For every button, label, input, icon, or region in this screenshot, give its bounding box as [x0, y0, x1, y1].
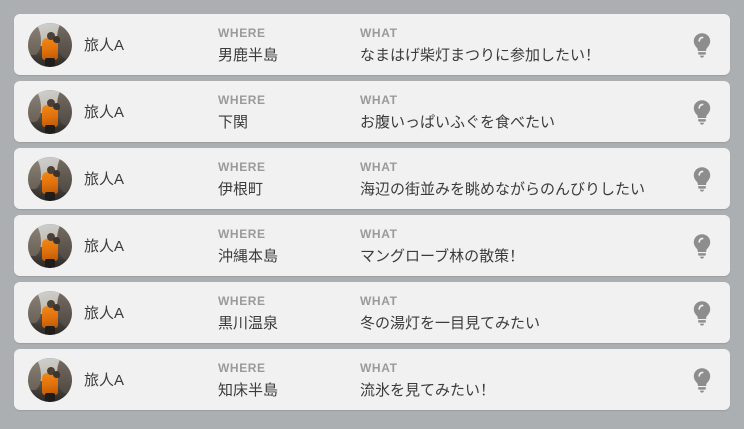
avatar-photo	[28, 291, 72, 335]
wish-card[interactable]: 旅人A WHERE 下関 WHAT お腹いっぱいふぐを食べたい	[14, 81, 730, 142]
what-field: WHAT なまはげ柴灯まつりに参加したい！	[360, 14, 600, 75]
avatar-photo-arm	[53, 170, 60, 177]
what-label: WHAT	[360, 94, 555, 106]
what-value: なまはげ柴灯まつりに参加したい！	[360, 48, 600, 63]
lightbulb-icon[interactable]	[690, 31, 714, 59]
avatar-photo-arm	[53, 371, 60, 378]
what-value: 流氷を見てみたい！	[360, 383, 495, 398]
what-field: WHAT 冬の湯灯を一目見てみたい	[360, 282, 540, 343]
avatar[interactable]	[28, 23, 72, 67]
avatar-photo-legs	[45, 259, 55, 268]
avatar[interactable]	[28, 291, 72, 335]
where-field: WHERE 伊根町	[218, 148, 266, 209]
avatar-photo	[28, 23, 72, 67]
avatar-photo	[28, 90, 72, 134]
where-field: WHERE 男鹿半島	[218, 14, 278, 75]
where-label: WHERE	[218, 94, 266, 106]
what-label: WHAT	[360, 27, 600, 39]
where-value: 沖縄本島	[218, 249, 278, 264]
what-value: 冬の湯灯を一目見てみたい	[360, 316, 540, 331]
where-label: WHERE	[218, 161, 266, 173]
avatar[interactable]	[28, 90, 72, 134]
traveller-name: 旅人A	[84, 34, 124, 55]
avatar-photo-arm	[53, 304, 60, 311]
wish-card[interactable]: 旅人A WHERE 伊根町 WHAT 海辺の街並みを眺めながらのんびりしたい	[14, 148, 730, 209]
where-label: WHERE	[218, 295, 278, 307]
what-value: マングローブ林の散策！	[360, 249, 524, 264]
lightbulb-icon[interactable]	[690, 165, 714, 193]
avatar-photo	[28, 224, 72, 268]
where-value: 黒川温泉	[218, 316, 278, 331]
wish-list: 旅人A WHERE 男鹿半島 WHAT なまはげ柴灯まつりに参加したい！	[0, 0, 744, 410]
what-label: WHAT	[360, 362, 495, 374]
what-label: WHAT	[360, 228, 524, 240]
traveller-name: 旅人A	[84, 101, 124, 122]
avatar[interactable]	[28, 157, 72, 201]
where-field: WHERE 黒川温泉	[218, 282, 278, 343]
what-value: お腹いっぱいふぐを食べたい	[360, 115, 555, 130]
avatar-photo-legs	[45, 125, 55, 134]
where-field: WHERE 知床半島	[218, 349, 278, 410]
avatar-photo	[28, 358, 72, 402]
avatar-photo-arm	[53, 36, 60, 43]
where-value: 伊根町	[218, 182, 266, 197]
traveller-name: 旅人A	[84, 369, 124, 390]
where-label: WHERE	[218, 362, 278, 374]
where-value: 男鹿半島	[218, 48, 278, 63]
traveller-name: 旅人A	[84, 235, 124, 256]
what-label: WHAT	[360, 295, 540, 307]
lightbulb-icon[interactable]	[690, 232, 714, 260]
lightbulb-icon[interactable]	[690, 366, 714, 394]
where-label: WHERE	[218, 228, 278, 240]
avatar[interactable]	[28, 358, 72, 402]
what-label: WHAT	[360, 161, 645, 173]
avatar-photo-legs	[45, 393, 55, 402]
where-field: WHERE 下関	[218, 81, 266, 142]
where-value: 知床半島	[218, 383, 278, 398]
avatar[interactable]	[28, 224, 72, 268]
traveller-name: 旅人A	[84, 302, 124, 323]
wish-card[interactable]: 旅人A WHERE 男鹿半島 WHAT なまはげ柴灯まつりに参加したい！	[14, 14, 730, 75]
what-field: WHAT マングローブ林の散策！	[360, 215, 524, 276]
avatar-photo-arm	[53, 103, 60, 110]
avatar-photo-arm	[53, 237, 60, 244]
where-label: WHERE	[218, 27, 278, 39]
avatar-photo-legs	[45, 58, 55, 67]
what-field: WHAT 海辺の街並みを眺めながらのんびりしたい	[360, 148, 645, 209]
what-field: WHAT 流氷を見てみたい！	[360, 349, 495, 410]
where-field: WHERE 沖縄本島	[218, 215, 278, 276]
avatar-photo	[28, 157, 72, 201]
traveller-name: 旅人A	[84, 168, 124, 189]
where-value: 下関	[218, 115, 266, 130]
avatar-photo-legs	[45, 326, 55, 335]
what-field: WHAT お腹いっぱいふぐを食べたい	[360, 81, 555, 142]
wish-card[interactable]: 旅人A WHERE 沖縄本島 WHAT マングローブ林の散策！	[14, 215, 730, 276]
avatar-photo-legs	[45, 192, 55, 201]
what-value: 海辺の街並みを眺めながらのんびりしたい	[360, 182, 645, 197]
wish-card[interactable]: 旅人A WHERE 黒川温泉 WHAT 冬の湯灯を一目見てみたい	[14, 282, 730, 343]
lightbulb-icon[interactable]	[690, 299, 714, 327]
lightbulb-icon[interactable]	[690, 98, 714, 126]
wish-card[interactable]: 旅人A WHERE 知床半島 WHAT 流氷を見てみたい！	[14, 349, 730, 410]
